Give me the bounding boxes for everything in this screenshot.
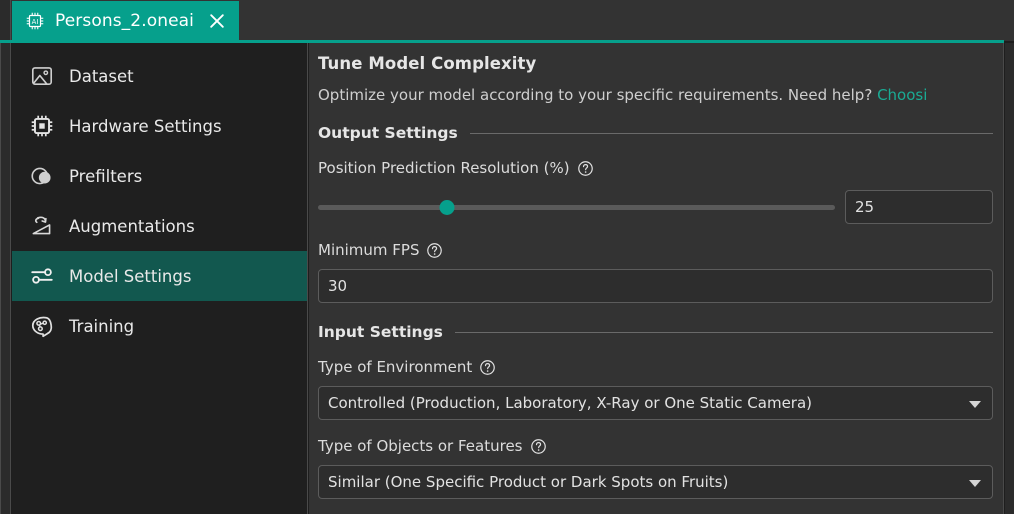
section-divider — [470, 133, 993, 134]
slider-thumb[interactable] — [440, 200, 455, 215]
right-gutter — [1005, 43, 1014, 514]
field-label-text: Position Prediction Resolution (%) — [318, 159, 570, 177]
section-title: Output Settings — [318, 124, 458, 142]
left-gutter — [0, 43, 11, 514]
field-label-text: Minimum FPS — [318, 241, 419, 259]
sidebar-item-dataset[interactable]: Dataset — [12, 51, 307, 101]
subtitle-text: Optimize your model according to your sp… — [318, 86, 872, 104]
sidebar-item-label: Model Settings — [69, 267, 191, 286]
sidebar-item-label: Prefilters — [69, 167, 142, 186]
tab-persons-2-oneai[interactable]: AI Persons_2.oneai — [12, 1, 239, 40]
help-circle-icon[interactable] — [530, 438, 547, 455]
label-position-prediction-resolution: Position Prediction Resolution (%) — [318, 159, 993, 177]
tab-bar: AI Persons_2.oneai — [0, 0, 1014, 41]
section-header-output-settings: Output Settings — [318, 124, 993, 142]
sidebar-item-hardware-settings[interactable]: Hardware Settings — [12, 101, 307, 151]
sidebar-item-model-settings[interactable]: Model Settings — [12, 251, 307, 301]
help-circle-icon[interactable] — [426, 242, 443, 259]
help-link[interactable]: Choosi — [877, 86, 927, 104]
sidebar-item-augmentations[interactable]: Augmentations — [12, 201, 307, 251]
sidebar-item-prefilters[interactable]: Prefilters — [12, 151, 307, 201]
minimum-fps-input[interactable]: 30 — [318, 269, 993, 303]
augmentation-icon — [29, 213, 55, 239]
tab-bar-left-gutter — [0, 0, 11, 41]
help-circle-icon[interactable] — [479, 359, 496, 376]
section-divider — [455, 332, 993, 333]
help-circle-icon[interactable] — [577, 160, 594, 177]
position-prediction-resolution-value[interactable]: 25 — [845, 190, 993, 224]
image-icon — [29, 63, 55, 89]
select-value: Controlled (Production, Laboratory, X-Ra… — [328, 394, 812, 412]
label-type-of-objects-or-features: Type of Objects or Features — [318, 437, 993, 455]
sidebar-nav: Dataset — [12, 43, 308, 514]
svg-text:AI: AI — [32, 17, 39, 25]
overlap-circles-icon — [29, 163, 55, 189]
select-value: Similar (One Specific Product or Dark Sp… — [328, 473, 728, 491]
section-title: Input Settings — [318, 323, 443, 341]
type-of-environment-select[interactable]: Controlled (Production, Laboratory, X-Ra… — [318, 386, 993, 420]
chevron-down-icon — [969, 401, 981, 408]
sidebar-item-label: Dataset — [69, 67, 134, 86]
chevron-down-icon — [969, 480, 981, 487]
tab-title: Persons_2.oneai — [55, 11, 194, 31]
page-title: Tune Model Complexity — [318, 54, 993, 73]
sidebar-item-label: Training — [69, 317, 134, 336]
field-label-text: Type of Environment — [318, 358, 472, 376]
sidebar-item-label: Augmentations — [69, 217, 195, 236]
cpu-chip-icon — [29, 113, 55, 139]
sidebar-item-training[interactable]: Training — [12, 301, 307, 351]
slider-track — [318, 205, 835, 210]
label-minimum-fps: Minimum FPS — [318, 241, 993, 259]
page-subtitle: Optimize your model according to your sp… — [318, 86, 993, 104]
position-prediction-resolution-row: 25 — [318, 190, 993, 224]
sidebar-item-label: Hardware Settings — [69, 117, 222, 136]
brain-icon — [29, 313, 55, 339]
section-header-input-settings: Input Settings — [318, 323, 993, 341]
application-window: AI Persons_2.oneai Dataset — [0, 0, 1014, 514]
type-of-objects-or-features-select[interactable]: Similar (One Specific Product or Dark Sp… — [318, 465, 993, 499]
field-label-text: Type of Objects or Features — [318, 437, 523, 455]
label-type-of-environment: Type of Environment — [318, 358, 993, 376]
model-settings-panel: Tune Model Complexity Optimize your mode… — [309, 43, 1004, 514]
ai-chip-icon: AI — [24, 10, 46, 32]
position-prediction-resolution-slider[interactable] — [318, 196, 835, 218]
workspace: Dataset — [0, 43, 1014, 514]
sliders-icon — [29, 263, 55, 289]
close-icon[interactable] — [207, 11, 227, 31]
